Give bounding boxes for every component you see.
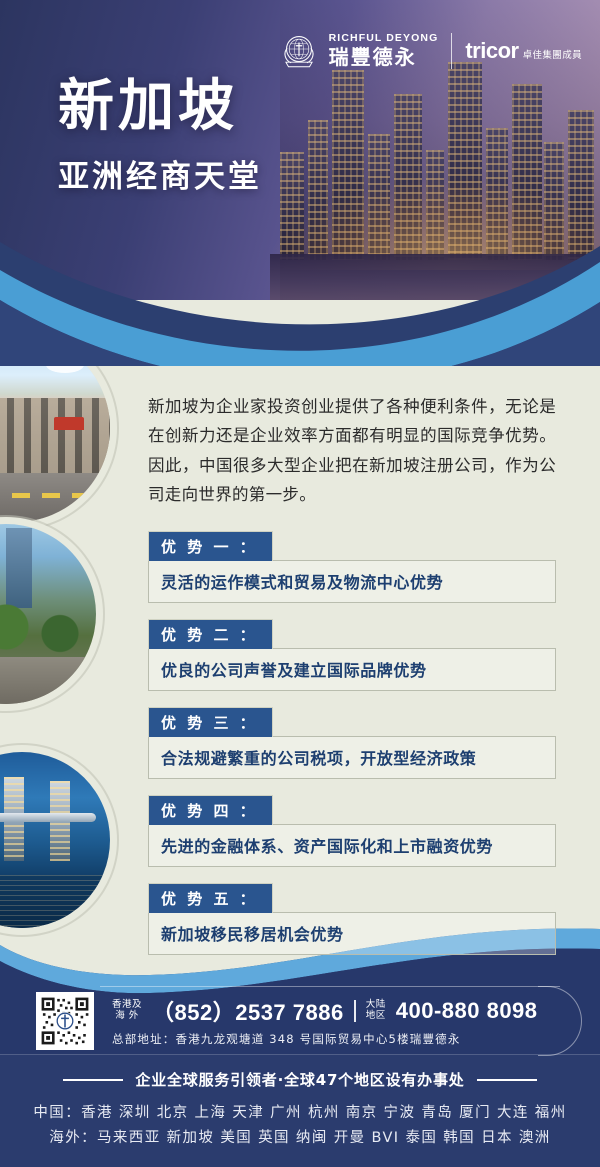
advantage-item-4: 优 势 四 ： 先进的金融体系、资产国际化和上市融资优势 [148,795,556,867]
brand-logo[interactable]: RICHFUL DEYONG 瑞豐德永 tricor 卓佳集團成員 [278,30,582,72]
advantage-badge-4: 优 势 四 ： [148,795,273,825]
photo-marina-bay-sands [0,752,110,928]
poster-root: 新加坡 亚洲经商天堂 RICHFUL DEYONG 瑞豐德永 tricor 卓佳… [0,0,600,1167]
page-subtitle: 亚洲经商天堂 [58,151,262,196]
advantage-text-5: 新加坡移民移居机会优势 [148,912,556,955]
partner-logo: tricor 卓佳集團成員 [465,38,582,64]
photo-city-park [0,524,96,704]
advantage-badge-5: 优 势 五 ： [148,883,273,913]
qr-code-icon[interactable] [36,992,94,1050]
partner-name-zh: 卓佳集團成員 [523,47,582,64]
tagline-text: 企业全球服务引领者·全球47个地区设有办事处 [135,1069,464,1090]
hero-curve-decoration [0,226,600,366]
advantage-badge-2: 优 势 二 ： [148,619,273,649]
advantage-badge-3: 优 势 三 ： [148,707,273,737]
advantage-text-2: 优良的公司声誉及建立国际品牌优势 [148,648,556,691]
advantage-item-1: 优 势 一 ： 灵活的运作模式和贸易及物流中心优势 [148,531,556,603]
brand-text: RICHFUL DEYONG 瑞豐德永 [329,33,439,69]
tagline-dash-right [477,1079,537,1081]
regions-list: 中国：香港 深圳 北京 上海 天津 广州 杭州 南京 宁波 青岛 厦门 大连 福… [0,1101,600,1152]
advantage-list: 优 势 一 ： 灵活的运作模式和贸易及物流中心优势 优 势 二 ： 优良的公司声… [148,531,556,955]
phone-hk-number[interactable]: （852）2537 7886 [152,995,344,1027]
qr-code-image [39,995,91,1047]
advantage-badge-1: 优 势 一 ： [148,531,273,561]
contact-bar: 香港及 海 外 （852）2537 7886 大陆 地区 400-880 809… [36,992,564,1050]
tagline-dash-left [63,1079,123,1081]
advantage-text-4: 先进的金融体系、资产国际化和上市融资优势 [148,824,556,867]
advantage-text-1: 灵活的运作模式和贸易及物流中心优势 [148,560,556,603]
brand-name-zh: 瑞豐德永 [329,46,439,69]
phone-row: 香港及 海 外 （852）2537 7886 大陆 地区 400-880 809… [112,995,564,1027]
phone-divider [354,1000,356,1022]
page-title: 新加坡 [58,78,262,137]
hero-title-block: 新加坡 亚洲经商天堂 [58,78,262,196]
head-office-address: 总部地址：香港九龙观塘道 348 号国际贸易中心5楼瑞豐德永 [112,1031,564,1047]
advantage-item-5: 优 势 五 ： 新加坡移民移居机会优势 [148,883,556,955]
contact-details: 香港及 海 外 （852）2537 7886 大陆 地区 400-880 809… [108,995,564,1047]
phone-cn-label: 大陆 地区 [366,1000,386,1022]
logo-divider [451,33,452,69]
tagline-row: 企业全球服务引领者·全球47个地区设有办事处 [0,1069,600,1090]
phone-hk-label: 香港及 海 外 [112,1000,142,1022]
partner-name: tricor [465,38,518,64]
main-content: 新加坡为企业家投资创业提供了各种便利条件，无论是在创新力还是企业效率方面都有明显… [148,392,556,971]
brand-name-en: RICHFUL DEYONG [329,33,439,45]
intro-paragraph: 新加坡为企业家投资创业提供了各种便利条件，无论是在创新力还是企业效率方面都有明显… [148,392,556,509]
regions-china: 中国：香港 深圳 北京 上海 天津 广州 杭州 南京 宁波 青岛 厦门 大连 福… [0,1101,600,1126]
footer-regions-band: 企业全球服务引领者·全球47个地区设有办事处 中国：香港 深圳 北京 上海 天津… [0,1054,600,1167]
regions-overseas: 海外：马来西亚 新加坡 美国 英国 纳闽 开曼 BVI 泰国 韩国 日本 澳洲 [0,1126,600,1151]
advantage-item-3: 优 势 三 ： 合法规避繁重的公司税项，开放型经济政策 [148,707,556,779]
phone-cn-number[interactable]: 400-880 8098 [396,998,538,1024]
advantage-text-3: 合法规避繁重的公司税项，开放型经济政策 [148,736,556,779]
advantage-item-2: 优 势 二 ： 优良的公司声誉及建立国际品牌优势 [148,619,556,691]
crest-emblem-icon [278,30,320,72]
contact-top-rule [100,986,560,987]
